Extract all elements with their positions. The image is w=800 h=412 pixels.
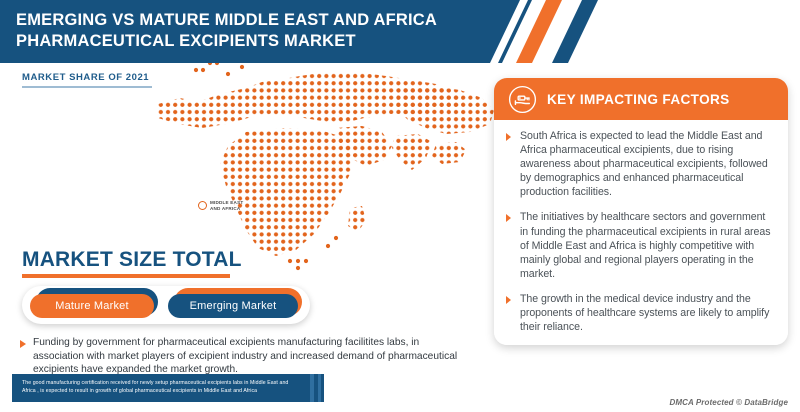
- market-size-total-group: MARKET SIZE TOTAL: [22, 248, 242, 278]
- key-impacting-factors-panel: KEY IMPACTING FACTORS South Africa is ex…: [494, 78, 788, 345]
- footer-accent-bar-1: [310, 374, 314, 402]
- market-share-label-group: MARKET SHARE OF 2021: [22, 72, 152, 88]
- map-legend-label: MIDDLE EAST AND AFRICA: [210, 200, 243, 212]
- emerging-market-button[interactable]: Emerging Market: [168, 291, 302, 319]
- fact-text: South Africa is expected to lead the Mid…: [520, 129, 774, 199]
- triangle-bullet-icon: [506, 214, 511, 222]
- mature-market-button-face[interactable]: Mature Market: [30, 294, 154, 318]
- map-legend: MIDDLE EAST AND AFRICA: [198, 200, 243, 212]
- left-note-text: Funding by government for pharmaceutical…: [33, 336, 468, 377]
- left-note: Funding by government for pharmaceutical…: [20, 336, 468, 377]
- footer-callout-text: The good manufacturing certification rec…: [22, 379, 297, 395]
- market-share-underline: [22, 86, 152, 88]
- key-impacting-factors-header: KEY IMPACTING FACTORS: [494, 78, 788, 120]
- triangle-bullet-icon: [506, 296, 511, 304]
- key-impacting-factors-title: KEY IMPACTING FACTORS: [547, 92, 730, 107]
- fact-text: The growth in the medical device industr…: [520, 292, 774, 334]
- circle-marker-icon: [198, 201, 207, 210]
- map-legend-line2: AND AFRICA: [210, 206, 240, 211]
- infographic-canvas: EMERGING VS MATURE MIDDLE EAST AND AFRIC…: [0, 0, 800, 412]
- market-size-total-underline: [22, 274, 230, 278]
- footer-accent-bar-2: [318, 374, 321, 402]
- page-title: EMERGING VS MATURE MIDDLE EAST AND AFRIC…: [16, 10, 486, 52]
- header-stripe-orange: [516, 0, 562, 63]
- fact-text: The initiatives by healthcare sectors an…: [520, 210, 774, 280]
- fact-item: The growth in the medical device industr…: [506, 292, 774, 334]
- header-stripe-navy-2: [552, 0, 598, 63]
- footer-callout-bar: The good manufacturing certification rec…: [12, 374, 324, 402]
- fact-item: South Africa is expected to lead the Mid…: [506, 129, 774, 199]
- market-share-label: MARKET SHARE OF 2021: [22, 72, 152, 83]
- map-legend-line1: MIDDLE EAST: [210, 200, 243, 205]
- hand-holding-key-icon: [508, 85, 537, 114]
- market-toggle-bar: Mature Market Emerging Market: [22, 286, 310, 324]
- fact-item: The initiatives by healthcare sectors an…: [506, 210, 774, 280]
- mature-market-button[interactable]: Mature Market: [30, 291, 158, 319]
- emerging-market-button-face[interactable]: Emerging Market: [168, 294, 298, 318]
- market-size-total-title: MARKET SIZE TOTAL: [22, 248, 242, 272]
- triangle-bullet-icon: [20, 340, 26, 348]
- key-impacting-factors-body: South Africa is expected to lead the Mid…: [494, 120, 788, 345]
- triangle-bullet-icon: [506, 133, 511, 141]
- dmca-credit: DMCA Protected © DataBridge: [669, 398, 788, 407]
